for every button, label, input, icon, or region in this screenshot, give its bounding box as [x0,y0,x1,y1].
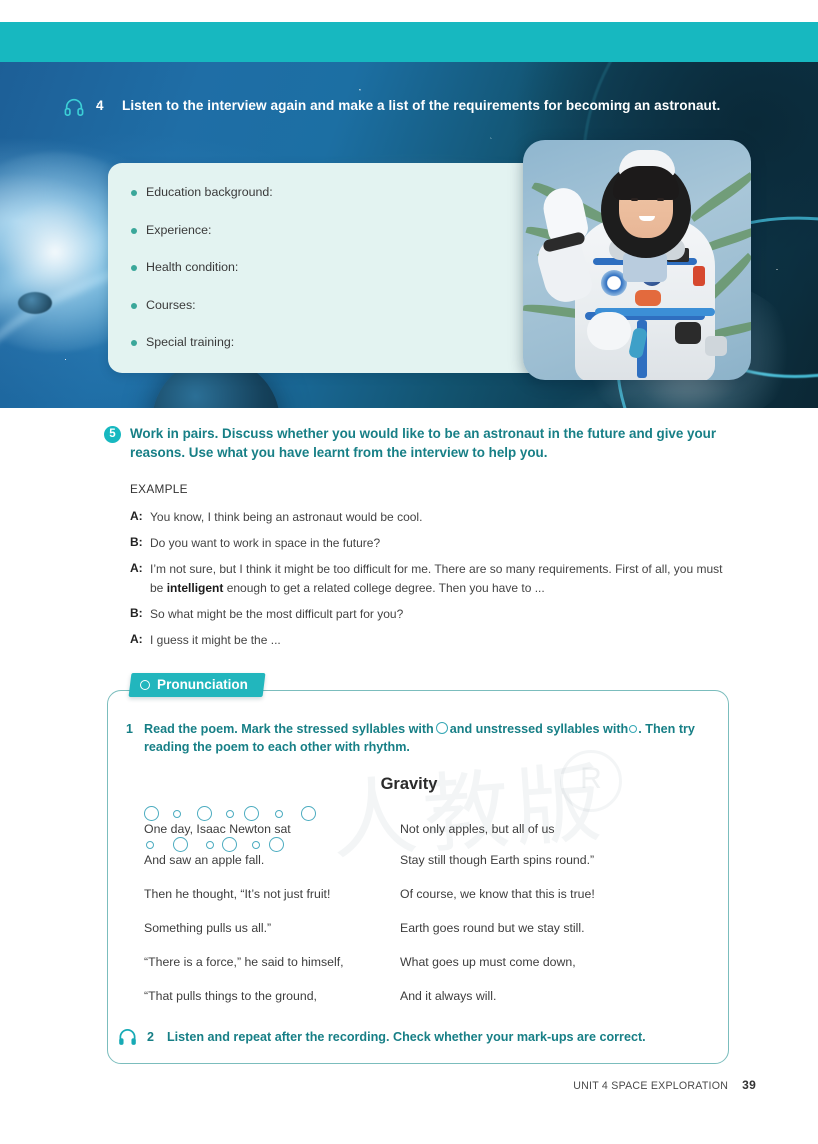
poem-line: What goes up must come down, [400,954,690,970]
task1-text-middle: and unstressed syllables with [450,722,628,736]
example-label: EXAMPLE [130,482,188,496]
poem-line: Not only apples, but all of us [400,821,690,837]
task-1-number: 1 [126,722,133,736]
stress-marks-line-1 [144,806,394,820]
stress-marks-line-2 [144,837,394,851]
dialogue-speaker: B: [130,605,150,624]
task-2-instruction: Listen and repeat after the recording. C… [167,1030,646,1044]
poem-right-column: Not only apples, but all of us Stay stil… [400,806,690,1004]
poem-line: Then he thought, “It’s not just fruit! [144,886,394,902]
dialogue-row: B: Do you want to work in space in the f… [130,534,730,553]
dialogue-text: Do you want to work in space in the futu… [150,534,380,553]
dialogue-text: You know, I think being an astronaut wou… [150,508,422,527]
exercise-4-instruction: Listen to the interview again and make a… [122,97,738,115]
poem-line: Stay still though Earth spins round.” [400,852,690,868]
dialogue-speaker: A: [130,560,150,597]
stressed-circle-icon [436,722,448,734]
poem-left-column: One day, Isaac Newton sat And saw an app… [144,806,394,1004]
list-item[interactable]: Health condition: [146,260,548,275]
exercise-5-number: 5 [104,426,121,443]
dialogue-text: So what might be the most difficult part… [150,605,403,624]
dialogue-row: A: I’m not sure, but I think it might be… [130,560,730,597]
poem-line: And it always will. [400,988,690,1004]
requirements-answer-card: Education background: Experience: Health… [108,163,548,373]
poem-line: “That pulls things to the ground, [144,988,394,1004]
footer-unit-label: UNIT 4 SPACE EXPLORATION [573,1080,728,1092]
exercise-4-number: 4 [96,98,104,113]
pronunciation-tab-label: Pronunciation [157,677,248,692]
list-item[interactable]: Experience: [146,223,548,238]
task-2-row: 2 Listen and repeat after the recording.… [118,1028,646,1046]
poem-line: Something pulls us all.” [144,920,394,936]
dialogue-speaker: B: [130,534,150,553]
page-footer: UNIT 4 SPACE EXPLORATION39 [573,1078,756,1092]
list-item[interactable]: Courses: [146,298,548,313]
circle-icon [140,680,150,690]
page-number: 39 [742,1078,756,1092]
exercise-5-instruction: Work in pairs. Discuss whether you would… [130,425,730,462]
list-item[interactable]: Education background: [146,185,548,200]
dialogue-text: I’m not sure, but I think it might be to… [150,560,730,597]
poem-line: Earth goes round but we stay still. [400,920,690,936]
poem-line: One day, Isaac Newton sat [144,821,394,837]
dialogue-speaker: A: [130,508,150,527]
dialogue-row: A: You know, I think being an astronaut … [130,508,730,527]
unstressed-circle-icon [629,725,637,733]
headphones-icon [118,1028,137,1046]
task1-text-before: Read the poem. Mark the stressed syllabl… [144,722,434,736]
example-dialogue: A: You know, I think being an astronaut … [130,508,730,657]
poem-line: And saw an apple fall. [144,852,394,868]
dialogue-row: B: So what might be the most difficult p… [130,605,730,624]
dialogue-row: A: I guess it might be the ... [130,631,730,650]
pronunciation-tab: Pronunciation [129,673,266,697]
list-item[interactable]: Special training: [146,335,548,350]
dialogue-speaker: A: [130,631,150,650]
requirements-list: Education background: Experience: Health… [108,163,548,350]
top-teal-band [0,22,818,62]
poem-title: Gravity [0,775,818,794]
headphones-icon [64,98,84,116]
task-1-instruction: Read the poem. Mark the stressed syllabl… [144,721,714,756]
astronaut-photo [523,140,751,380]
poem-line: “There is a force,” he said to himself, [144,954,394,970]
dialogue-text: I guess it might be the ... [150,631,281,650]
task-2-number: 2 [147,1030,154,1044]
poem-line: Of course, we know that this is true! [400,886,690,902]
moonlet [18,292,52,314]
